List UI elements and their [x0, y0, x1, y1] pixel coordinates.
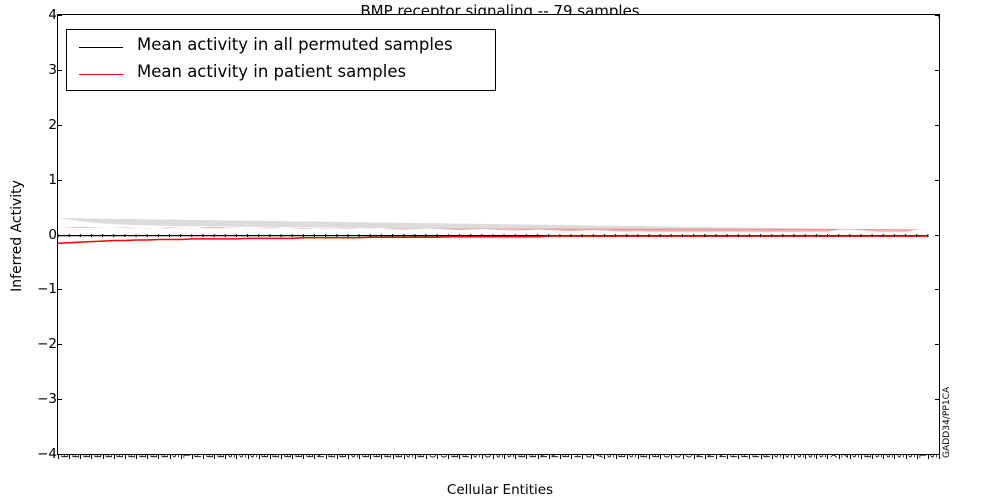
- x-tick-mark: [158, 455, 159, 459]
- x-tick-mark: [783, 455, 784, 459]
- y-tick-mark: [57, 180, 62, 181]
- x-tick-mark: [348, 455, 349, 459]
- x-tick-mark: [426, 455, 427, 459]
- x-tick-mark: [593, 455, 594, 459]
- x-tick-mark: [582, 455, 583, 459]
- x-tick-mark: [459, 455, 460, 459]
- y-tick-mark: [57, 235, 62, 236]
- x-tick-mark: [103, 455, 104, 459]
- x-tick-mark: [437, 455, 438, 459]
- x-axis-label: Cellular Entities: [0, 482, 1000, 498]
- x-tick-mark: [906, 455, 907, 459]
- x-tick-mark: [827, 455, 828, 459]
- x-tick-mark: [471, 455, 472, 459]
- x-tick-mark: [928, 455, 929, 459]
- y-tick-mark: [935, 289, 940, 290]
- x-tick-mark: [270, 455, 271, 459]
- y-tick-mark: [935, 344, 940, 345]
- x-tick-mark: [303, 455, 304, 459]
- x-tick-mark: [571, 455, 572, 459]
- x-tick-mark: [393, 455, 394, 459]
- x-tick-mark: [538, 455, 539, 459]
- y-tick-label: 3: [0, 62, 57, 78]
- x-tick-mark: [738, 455, 739, 459]
- x-tick-mark: [203, 455, 204, 459]
- y-tick-label: 1: [0, 172, 57, 188]
- y-tick-mark: [57, 125, 62, 126]
- x-tick-mark: [638, 455, 639, 459]
- x-tick-mark: [493, 455, 494, 459]
- legend: Mean activity in all permuted samplesMea…: [66, 29, 496, 91]
- x-tick-mark: [761, 455, 762, 459]
- x-tick-mark: [415, 455, 416, 459]
- x-tick-mark: [91, 455, 92, 459]
- y-tick-label: −4: [0, 446, 57, 462]
- x-tick-mark: [259, 455, 260, 459]
- x-tick-mark: [694, 455, 695, 459]
- x-tick-mark: [482, 455, 483, 459]
- y-tick-label: 0: [0, 227, 57, 243]
- y-tick-mark: [57, 15, 62, 16]
- x-tick-mark: [604, 455, 605, 459]
- x-tick-mark: [58, 455, 59, 459]
- legend-line-swatch: [79, 47, 123, 48]
- x-tick-mark: [181, 455, 182, 459]
- x-tick-mark: [839, 455, 840, 459]
- x-tick-mark: [850, 455, 851, 459]
- y-tick-label: 4: [0, 7, 57, 23]
- x-tick-mark: [326, 455, 327, 459]
- y-tick-mark: [935, 70, 940, 71]
- x-tick-mark: [939, 455, 940, 459]
- x-tick-mark: [794, 455, 795, 459]
- x-tick-mark: [883, 455, 884, 459]
- x-tick-mark: [671, 455, 672, 459]
- x-tick-mark: [225, 455, 226, 459]
- x-tick-mark: [549, 455, 550, 459]
- x-tick-mark: [236, 455, 237, 459]
- x-tick-mark: [504, 455, 505, 459]
- x-tick-mark: [359, 455, 360, 459]
- y-tick-label: −1: [0, 281, 57, 297]
- x-tick-mark: [214, 455, 215, 459]
- x-tick-mark: [526, 455, 527, 459]
- y-tick-mark: [57, 399, 62, 400]
- x-tick-mark: [616, 455, 617, 459]
- y-tick-mark: [935, 15, 940, 16]
- x-tick-mark: [337, 455, 338, 459]
- x-tick-mark: [861, 455, 862, 459]
- x-tick-mark: [649, 455, 650, 459]
- y-tick-label: −2: [0, 336, 57, 352]
- legend-label: Mean activity in all permuted samples: [137, 35, 453, 54]
- x-tick-mark: [147, 455, 148, 459]
- x-tick-mark: [772, 455, 773, 459]
- permuted-band: [58, 218, 928, 230]
- x-tick-mark: [114, 455, 115, 459]
- x-tick-mark: [894, 455, 895, 459]
- x-tick-mark: [69, 455, 70, 459]
- y-tick-mark: [57, 70, 62, 71]
- x-tick-mark: [805, 455, 806, 459]
- y-tick-mark: [57, 344, 62, 345]
- x-tick-mark: [292, 455, 293, 459]
- y-tick-mark: [57, 289, 62, 290]
- legend-item[interactable]: Mean activity in all permuted samples: [67, 35, 497, 61]
- x-tick-mark: [125, 455, 126, 459]
- x-tick-mark: [683, 455, 684, 459]
- x-tick-mark: [660, 455, 661, 459]
- x-tick-mark: [917, 455, 918, 459]
- y-tick-label: 2: [0, 117, 57, 133]
- x-tick-mark: [749, 455, 750, 459]
- x-tick-mark: [515, 455, 516, 459]
- x-tick-mark: [170, 455, 171, 459]
- x-tick-mark: [816, 455, 817, 459]
- y-tick-label: −3: [0, 391, 57, 407]
- y-tick-mark: [935, 125, 940, 126]
- x-tick-mark: [872, 455, 873, 459]
- x-tick-mark: [80, 455, 81, 459]
- legend-label: Mean activity in patient samples: [137, 62, 406, 81]
- legend-item[interactable]: Mean activity in patient samples: [67, 62, 497, 88]
- x-tick-mark: [281, 455, 282, 459]
- patient-mean-line: [58, 236, 928, 243]
- y-tick-mark: [935, 235, 940, 236]
- x-tick-mark: [136, 455, 137, 459]
- x-tick-mark: [404, 455, 405, 459]
- x-tick-mark: [716, 455, 717, 459]
- x-tick-mark: [314, 455, 315, 459]
- figure: BMP receptor signaling -- 79 samples Inf…: [0, 0, 1000, 500]
- x-tick-mark: [192, 455, 193, 459]
- legend-line-swatch: [79, 74, 123, 75]
- x-tick-mark: [370, 455, 371, 459]
- x-tick-mark: [705, 455, 706, 459]
- x-tick-mark: [248, 455, 249, 459]
- y-tick-mark: [935, 180, 940, 181]
- x-tick-mark: [560, 455, 561, 459]
- x-tick-mark: [727, 455, 728, 459]
- x-tick-mark: [381, 455, 382, 459]
- x-tick-mark: [627, 455, 628, 459]
- x-tick-label: GADD34/PP1CA: [943, 387, 952, 458]
- x-tick-mark: [448, 455, 449, 459]
- y-tick-mark: [935, 399, 940, 400]
